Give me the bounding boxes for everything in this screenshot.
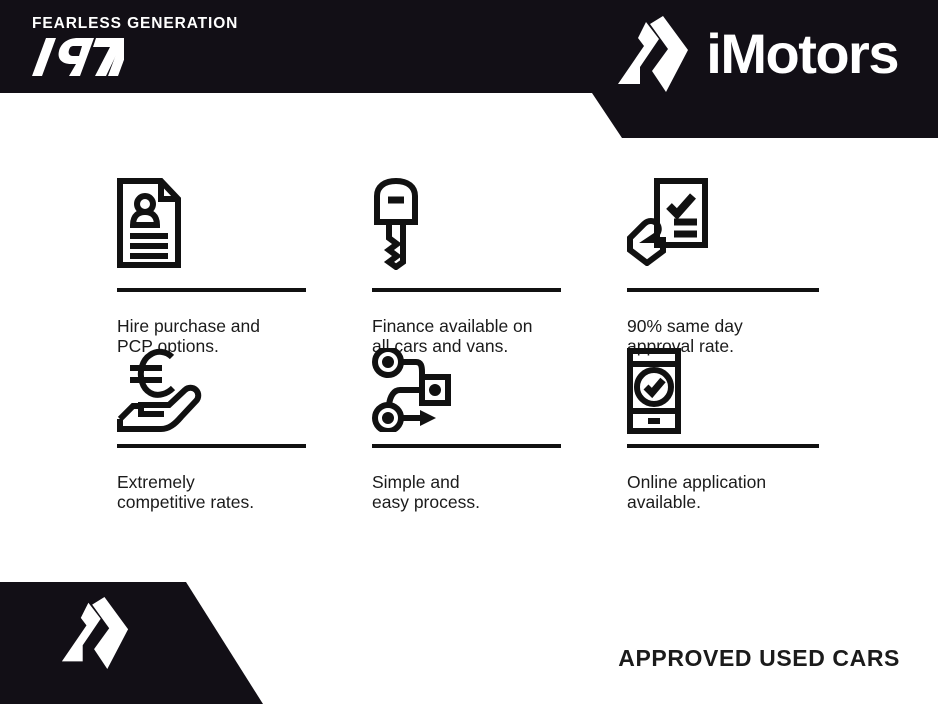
hand-holding-checklist-icon: [627, 178, 737, 288]
feature-divider: [117, 288, 306, 292]
brand-name-text: iMotors: [706, 26, 898, 82]
imotors-chevron-logo-icon: [616, 16, 690, 92]
feature-label: Online application available.: [627, 472, 821, 512]
feature-hire-purchase: Hire purchase and PCP options.: [117, 178, 372, 348]
feature-divider: [372, 444, 561, 448]
feature-divider: [627, 288, 819, 292]
feature-approval-rate: 90% same day approval rate.: [627, 178, 821, 348]
feature-divider: [627, 444, 819, 448]
feature-divider: [117, 444, 306, 448]
feature-finance-available: Finance available on all cars and vans.: [372, 178, 627, 348]
feature-label: Simple and easy process.: [372, 472, 627, 512]
approved-used-cars-caption: APPROVED USED CARS: [618, 645, 900, 672]
feature-competitive-rates: Extremely competitive rates.: [117, 348, 372, 512]
features-grid: Hire purchase and PCP options. Finance a…: [117, 178, 821, 512]
year-1971-logo: [32, 38, 238, 76]
feature-label: Extremely competitive rates.: [117, 472, 372, 512]
process-flowchart-icon: [372, 348, 482, 444]
euro-in-hand-icon: [117, 348, 227, 444]
footer-shape: [0, 575, 300, 704]
feature-easy-process: Simple and easy process.: [372, 348, 627, 512]
header-bar: FEARLESS GENERATION: [0, 0, 938, 138]
car-key-icon: [372, 178, 482, 288]
smartphone-check-icon: [627, 348, 737, 444]
tagline-text: FEARLESS GENERATION: [32, 16, 238, 32]
footer-imotors-chevron-logo-icon: [60, 596, 130, 670]
fearless-generation-block: FEARLESS GENERATION: [32, 16, 238, 76]
feature-divider: [372, 288, 561, 292]
document-person-icon: [117, 178, 227, 288]
brand-lockup: iMotors: [616, 16, 898, 92]
feature-online-application: Online application available.: [627, 348, 821, 512]
